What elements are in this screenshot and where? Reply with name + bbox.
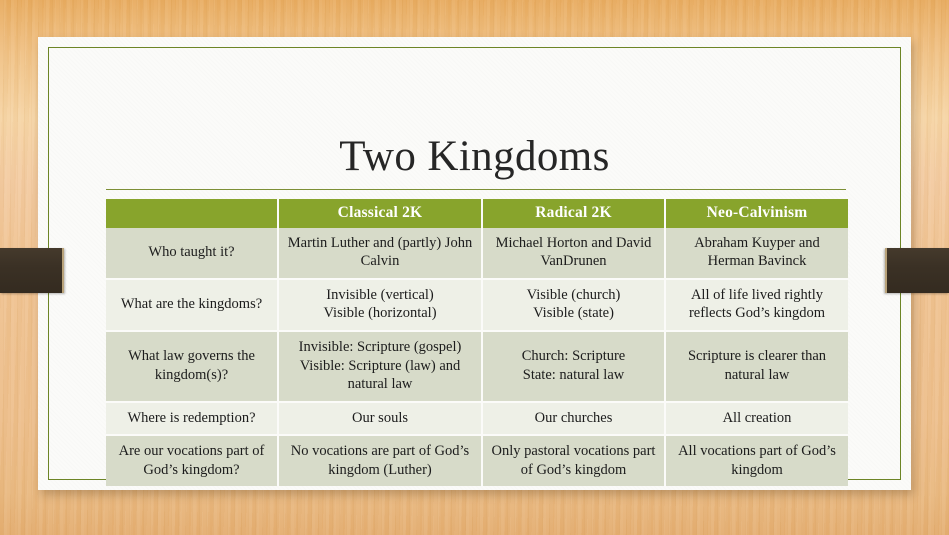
slide-stage: Two Kingdoms Classical 2K Radical 2K Neo… [0, 0, 949, 535]
table-top-rule [106, 189, 846, 190]
table-row: What law governs the kingdom(s)? Invisib… [106, 331, 848, 402]
table-cell-radical: Our churches [482, 402, 665, 436]
table-header-classical-2k: Classical 2K [278, 199, 482, 228]
table-cell-question: Who taught it? [106, 228, 278, 279]
table-row: What are the kingdoms? Invisible (vertic… [106, 279, 848, 331]
table-row: Where is redemption? Our souls Our churc… [106, 402, 848, 436]
table-cell-neocalvinism: All creation [665, 402, 848, 436]
table-cell-question: What are the kingdoms? [106, 279, 278, 331]
table-cell-classical: Martin Luther and (partly) John Calvin [278, 228, 482, 279]
table-cell-neocalvinism: Abraham Kuyper and Herman Bavinck [665, 228, 848, 279]
table-cell-neocalvinism: Scripture is clearer than natural law [665, 331, 848, 402]
table-header-radical-2k: Radical 2K [482, 199, 665, 228]
table-row: Are our vocations part of God’s kingdom?… [106, 435, 848, 486]
table-cell-neocalvinism: All vocations part of God’s kingdom [665, 435, 848, 486]
table-cell-radical: Church: ScriptureState: natural law [482, 331, 665, 402]
table-header-blank [106, 199, 278, 228]
table-cell-classical: No vocations are part of God’s kingdom (… [278, 435, 482, 486]
comparison-table: Classical 2K Radical 2K Neo-Calvinism Wh… [106, 199, 848, 486]
table-cell-neocalvinism: All of life lived rightly reflects God’s… [665, 279, 848, 331]
table-cell-question: Are our vocations part of God’s kingdom? [106, 435, 278, 486]
table-cell-classical: Our souls [278, 402, 482, 436]
comparison-table-wrapper: Classical 2K Radical 2K Neo-Calvinism Wh… [106, 199, 848, 486]
decorative-band-left [0, 248, 64, 293]
decorative-band-right [885, 248, 949, 293]
table-cell-radical: Michael Horton and David VanDrunen [482, 228, 665, 279]
table-cell-radical: Only pastoral vocations part of God’s ki… [482, 435, 665, 486]
table-cell-question: Where is redemption? [106, 402, 278, 436]
table-cell-radical: Visible (church)Visible (state) [482, 279, 665, 331]
table-row: Who taught it? Martin Luther and (partly… [106, 228, 848, 279]
table-cell-classical: Invisible: Scripture (gospel)Visible: Sc… [278, 331, 482, 402]
table-header-neo-calvinism: Neo-Calvinism [665, 199, 848, 228]
slide-panel: Two Kingdoms Classical 2K Radical 2K Neo… [38, 37, 911, 490]
table-body: Who taught it? Martin Luther and (partly… [106, 228, 848, 486]
table-cell-classical: Invisible (vertical)Visible (horizontal) [278, 279, 482, 331]
page-title: Two Kingdoms [38, 132, 911, 181]
table-cell-question: What law governs the kingdom(s)? [106, 331, 278, 402]
table-header-row: Classical 2K Radical 2K Neo-Calvinism [106, 199, 848, 228]
